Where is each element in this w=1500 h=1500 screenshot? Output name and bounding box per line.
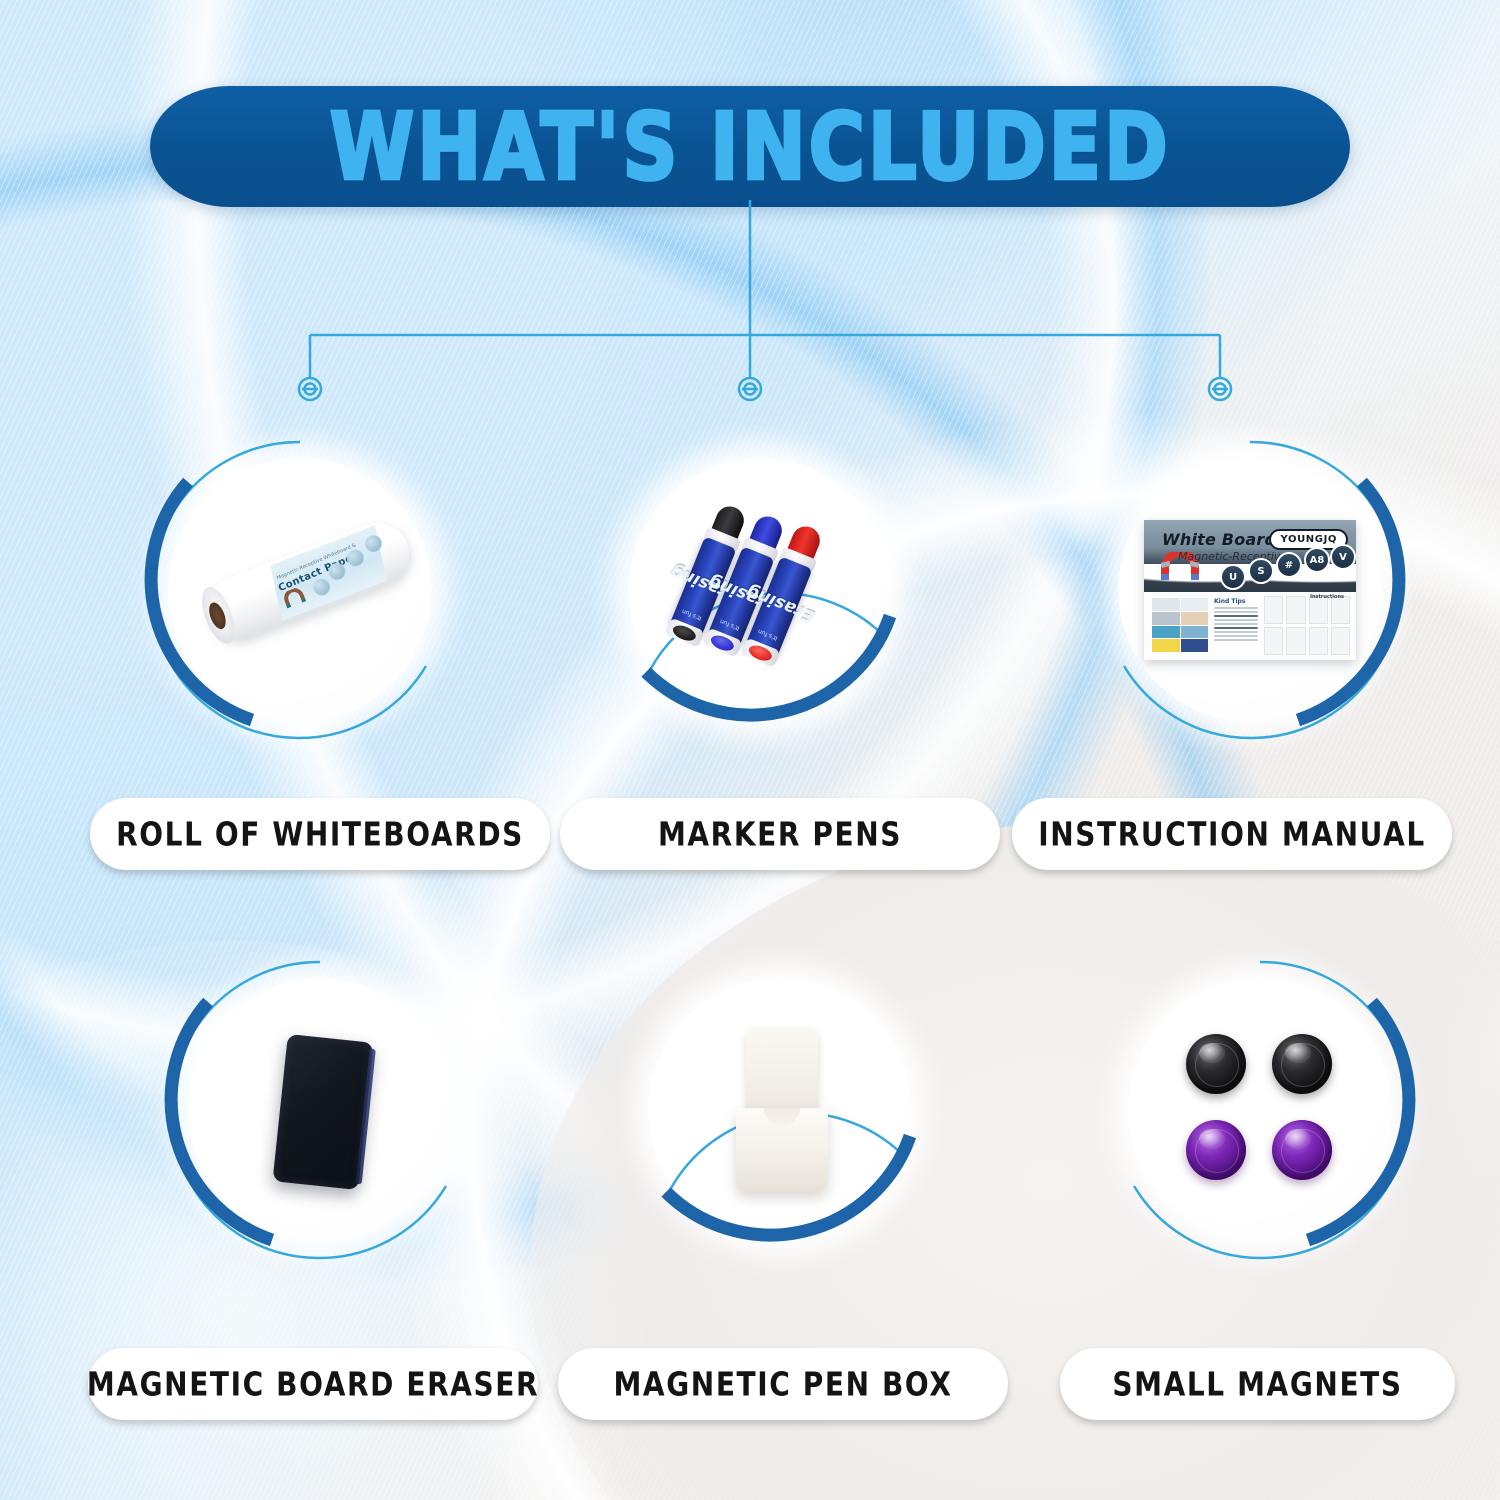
label-text: MAGNETIC PEN BOX bbox=[613, 1365, 952, 1404]
manual-sheet-icon: White Board Sticker Magnetic-Receptive Y… bbox=[1144, 520, 1356, 660]
product-art-eraser bbox=[188, 978, 452, 1242]
tips-heading: Kind Tips bbox=[1214, 598, 1258, 605]
steps-heading: Instructions bbox=[1310, 594, 1344, 600]
magnet-black-2 bbox=[1272, 1034, 1332, 1094]
label-text: SMALL MAGNETS bbox=[1112, 1365, 1402, 1404]
pen-box-icon bbox=[736, 1028, 828, 1192]
label-text: INSTRUCTION MANUAL bbox=[1038, 815, 1426, 854]
label-pill-instruction-manual[interactable]: INSTRUCTION MANUAL bbox=[1012, 798, 1452, 870]
infographic-canvas: WHAT'S INCLUDED bbox=[0, 0, 1500, 1500]
tips-column: Kind Tips bbox=[1214, 598, 1258, 643]
circle-frame: Erasing It's fun Erasing It's fun bbox=[590, 420, 930, 760]
circle-frame: Magnetic-Receptive Whiteboard & Contact … bbox=[130, 420, 470, 760]
label-pill-roll-of-whiteboards[interactable]: ROLL OF WHITEBOARDS bbox=[90, 798, 550, 870]
circle-frame: White Board Sticker Magnetic-Receptive Y… bbox=[1080, 420, 1420, 760]
feature-icon-1: U bbox=[1220, 564, 1246, 590]
magnet-purple-2 bbox=[1272, 1120, 1332, 1180]
steps-grid: Instructions bbox=[1264, 596, 1350, 655]
manual-subtitle: Magnetic-Receptive bbox=[1178, 550, 1287, 563]
circle-frame bbox=[1090, 940, 1430, 1280]
product-art-paper-roll: Magnetic-Receptive Whiteboard & Contact … bbox=[168, 458, 432, 722]
product-art-manual: White Board Sticker Magnetic-Receptive Y… bbox=[1118, 458, 1382, 722]
circle-frame bbox=[610, 940, 950, 1280]
product-art-pen-box bbox=[648, 978, 912, 1242]
feature-icon-5: V bbox=[1330, 544, 1356, 570]
label-pill-magnetic-board-eraser[interactable]: MAGNETIC BOARD ERASER bbox=[88, 1348, 538, 1420]
color-swatches bbox=[1152, 598, 1208, 652]
magnet-purple-1 bbox=[1186, 1120, 1246, 1180]
label-pill-magnetic-pen-box[interactable]: MAGNETIC PEN BOX bbox=[558, 1348, 1008, 1420]
magnet-black-1 bbox=[1186, 1034, 1246, 1094]
paper-roll-icon: Magnetic-Receptive Whiteboard & Contact … bbox=[198, 514, 418, 648]
label-text: ROLL OF WHITEBOARDS bbox=[116, 815, 524, 854]
feature-icon-2: S bbox=[1248, 558, 1274, 584]
label-pill-small-magnets[interactable]: SMALL MAGNETS bbox=[1060, 1348, 1455, 1420]
label-pill-marker-pens[interactable]: MARKER PENS bbox=[560, 798, 1000, 870]
feature-icon-3: # bbox=[1276, 552, 1302, 578]
page-title: WHAT'S INCLUDED bbox=[330, 93, 1171, 200]
eraser-icon bbox=[273, 1034, 374, 1190]
label-text: MAGNETIC BOARD ERASER bbox=[87, 1365, 539, 1404]
label-text: MARKER PENS bbox=[658, 815, 902, 854]
product-art-marker-pens: Erasing It's fun Erasing It's fun bbox=[628, 458, 892, 722]
header-banner: WHAT'S INCLUDED bbox=[150, 86, 1350, 207]
product-art-magnets bbox=[1128, 978, 1392, 1242]
circle-frame bbox=[150, 940, 490, 1280]
feature-icon-4: A8 bbox=[1304, 547, 1330, 573]
